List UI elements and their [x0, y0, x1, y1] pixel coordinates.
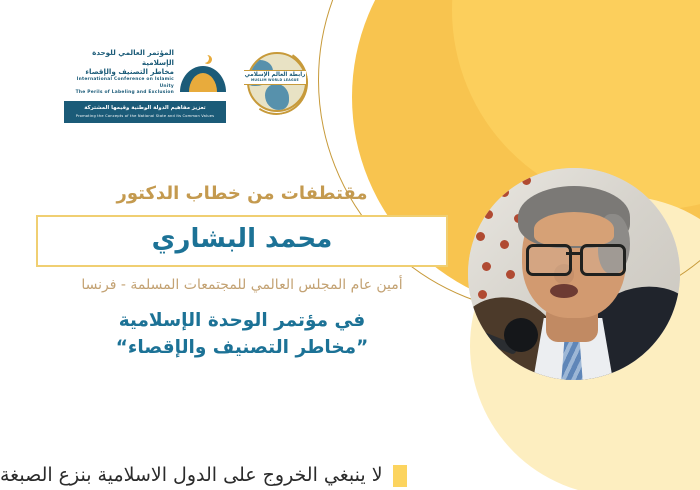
- kicker-heading: مقتطفات من خطاب الدكتور: [36, 182, 448, 205]
- conference-title-line-2: ”مخاطر التصنيف والإقصاء“: [36, 335, 448, 362]
- logo-row: المؤتمر العالمي للوحدة الإسلامية مخاطر ا…: [64, 48, 306, 123]
- speaker-name: محمد البشاري: [48, 225, 436, 255]
- conference-logo-top: المؤتمر العالمي للوحدة الإسلامية مخاطر ا…: [64, 48, 226, 97]
- conference-logo-arabic-1: المؤتمر العالمي للوحدة الإسلامية: [64, 48, 174, 67]
- mosque-dome-crescent-icon: [180, 52, 226, 92]
- conference-banner-english: Promoting the Concepts of the National S…: [69, 114, 221, 119]
- poster-canvas: المؤتمر العالمي للوحدة الإسلامية مخاطر ا…: [0, 0, 700, 490]
- glasses-lens-left: [526, 244, 572, 276]
- quote-marker-bar: [393, 465, 407, 487]
- speaker-role: أمين عام المجلس العالمي للمجتمعات المسلم…: [36, 276, 448, 296]
- quote-text: لا ينبغي الخروج على الدول الاسلامية بنزع…: [0, 464, 383, 488]
- main-text-block: مقتطفات من خطاب الدكتور محمد البشاري أمي…: [36, 182, 448, 362]
- speaker-name-box: محمد البشاري: [36, 215, 448, 267]
- mwl-english-text: MUSLIM WORLD LEAGUE: [251, 79, 299, 83]
- glasses-lens-right: [580, 244, 626, 276]
- conference-logo-banner: تعزيز مفاهيم الدولة الوطنية وقيمها المشت…: [64, 101, 226, 123]
- conference-logo-english-1: International Conference on Islamic Unit…: [64, 77, 174, 90]
- conference-title: في مؤتمر الوحدة الإسلامية ”مخاطر التصنيف…: [36, 308, 448, 362]
- crescent-icon: [200, 54, 209, 63]
- mwl-band: رابطة العالم الإسلامي MUSLIM WORLD LEAGU…: [244, 70, 306, 85]
- portrait-forehead: [534, 212, 614, 246]
- conference-banner-arabic: تعزيز مفاهيم الدولة الوطنية وقيمها المشت…: [69, 105, 221, 113]
- conference-logo: المؤتمر العالمي للوحدة الإسلامية مخاطر ا…: [64, 48, 226, 123]
- conference-title-line-1: في مؤتمر الوحدة الإسلامية: [36, 308, 448, 335]
- quote-row: لا ينبغي الخروج على الدول الاسلامية بنزع…: [0, 462, 700, 490]
- muslim-world-league-logo: رابطة العالم الإسلامي MUSLIM WORLD LEAGU…: [244, 48, 306, 114]
- glasses-bridge: [566, 252, 580, 255]
- conference-logo-english-2: The Perils of Labeling and Exclusion: [64, 90, 174, 97]
- conference-logo-text: المؤتمر العالمي للوحدة الإسلامية مخاطر ا…: [64, 48, 174, 97]
- portrait-mouth: [550, 284, 578, 298]
- speaker-portrait-photo: [468, 168, 680, 380]
- conference-logo-arabic-2: مخاطر التصنيف والإقصاء: [64, 67, 174, 77]
- eyeglasses-icon: [524, 244, 628, 270]
